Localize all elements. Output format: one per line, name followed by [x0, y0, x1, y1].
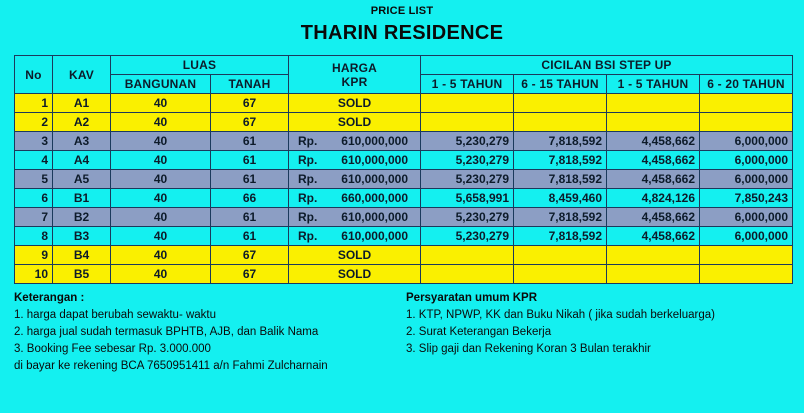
cell-status-sold: SOLD	[289, 113, 421, 132]
header-kpr: KPR	[293, 75, 416, 89]
cell-no: 4	[15, 151, 53, 170]
cell-cicilan-4: 6,000,000	[700, 170, 793, 189]
cell-kav: A4	[53, 151, 111, 170]
cell-cicilan-1: 5,230,279	[421, 170, 514, 189]
cell-bangunan: 40	[111, 132, 211, 151]
cell-status-sold: SOLD	[289, 265, 421, 284]
cell-no: 8	[15, 227, 53, 246]
cell-cicilan-4: 6,000,000	[700, 151, 793, 170]
cell-cicilan-4	[700, 246, 793, 265]
footer-notes: Keterangan : 1. harga dapat berubah sewa…	[14, 290, 793, 375]
cell-kav: B5	[53, 265, 111, 284]
cell-cicilan-1	[421, 113, 514, 132]
cell-cicilan-3: 4,458,662	[607, 132, 700, 151]
note-line: 1. harga dapat berubah sewaktu- waktu	[14, 307, 401, 324]
pricelist-table: No KAV LUAS HARGA KPR CICILAN BSI STEP U…	[14, 55, 793, 284]
header-cicilan-3: 1 - 5 TAHUN	[607, 75, 700, 94]
cell-harga: Rp.610,000,000	[289, 227, 421, 246]
cell-cicilan-2: 7,818,592	[514, 170, 607, 189]
cell-no: 9	[15, 246, 53, 265]
table-row: 7B24061Rp.610,000,0005,230,2797,818,5924…	[15, 208, 793, 227]
currency-prefix: Rp.	[298, 134, 317, 148]
cell-harga: Rp.610,000,000	[289, 208, 421, 227]
cell-harga: Rp.660,000,000	[289, 189, 421, 208]
header-row-top: No KAV LUAS HARGA KPR CICILAN BSI STEP U…	[15, 56, 793, 75]
cell-bangunan: 40	[111, 227, 211, 246]
cell-cicilan-1: 5,230,279	[421, 151, 514, 170]
cell-no: 7	[15, 208, 53, 227]
price-amount: 610,000,000	[341, 172, 408, 186]
cell-cicilan-2: 7,818,592	[514, 151, 607, 170]
cell-cicilan-1	[421, 246, 514, 265]
cell-bangunan: 40	[111, 189, 211, 208]
currency-prefix: Rp.	[298, 229, 317, 243]
price-amount: 610,000,000	[341, 134, 408, 148]
cell-no: 10	[15, 265, 53, 284]
cell-cicilan-3: 4,458,662	[607, 208, 700, 227]
price-amount: 660,000,000	[341, 191, 408, 205]
cell-bangunan: 40	[111, 265, 211, 284]
table-row: 2A24067SOLD	[15, 113, 793, 132]
notes-keterangan-heading: Keterangan :	[14, 290, 401, 307]
header-cicilan: CICILAN BSI STEP UP	[421, 56, 793, 75]
currency-prefix: Rp.	[298, 153, 317, 167]
cell-no: 5	[15, 170, 53, 189]
cell-no: 1	[15, 94, 53, 113]
notes-keterangan-lines: 1. harga dapat berubah sewaktu- waktu2. …	[14, 307, 401, 375]
table-row: 8B34061Rp.610,000,0005,230,2797,818,5924…	[15, 227, 793, 246]
cell-status-sold: SOLD	[289, 246, 421, 265]
header-bangunan: BANGUNAN	[111, 75, 211, 94]
cell-cicilan-4: 6,000,000	[700, 227, 793, 246]
cell-cicilan-3: 4,458,662	[607, 151, 700, 170]
note-line: 3. Slip gaji dan Rekening Koran 3 Bulan …	[406, 341, 793, 358]
header-cicilan-1: 1 - 5 TAHUN	[421, 75, 514, 94]
cell-cicilan-1	[421, 94, 514, 113]
price-amount: 610,000,000	[341, 153, 408, 167]
cell-harga: Rp.610,000,000	[289, 132, 421, 151]
table-row: 9B44067SOLD	[15, 246, 793, 265]
cell-cicilan-4	[700, 94, 793, 113]
cell-tanah: 61	[211, 151, 289, 170]
cell-kav: A5	[53, 170, 111, 189]
table-row: 4A44061Rp.610,000,0005,230,2797,818,5924…	[15, 151, 793, 170]
header-harga: HARGA	[293, 61, 416, 75]
cell-bangunan: 40	[111, 151, 211, 170]
cell-cicilan-2	[514, 113, 607, 132]
header-tanah: TANAH	[211, 75, 289, 94]
cell-harga: Rp.610,000,000	[289, 170, 421, 189]
cell-cicilan-2: 8,459,460	[514, 189, 607, 208]
header-harga-kpr: HARGA KPR	[289, 56, 421, 94]
cell-harga: Rp.610,000,000	[289, 151, 421, 170]
cell-cicilan-3	[607, 265, 700, 284]
notes-persyaratan-lines: 1. KTP, NPWP, KK dan Buku Nikah ( jika s…	[406, 307, 793, 358]
cell-cicilan-3	[607, 246, 700, 265]
cell-tanah: 67	[211, 113, 289, 132]
page-subtitle: PRICE LIST	[0, 5, 804, 18]
cell-cicilan-1: 5,230,279	[421, 208, 514, 227]
cell-cicilan-3: 4,824,126	[607, 189, 700, 208]
cell-cicilan-1: 5,230,279	[421, 132, 514, 151]
cell-tanah: 66	[211, 189, 289, 208]
note-line: 2. Surat Keterangan Bekerja	[406, 324, 793, 341]
cell-cicilan-2: 7,818,592	[514, 208, 607, 227]
table-row: 6B14066Rp.660,000,0005,658,9918,459,4604…	[15, 189, 793, 208]
note-line: 1. KTP, NPWP, KK dan Buku Nikah ( jika s…	[406, 307, 793, 324]
cell-cicilan-2	[514, 246, 607, 265]
header-cicilan-2: 6 - 15 TAHUN	[514, 75, 607, 94]
currency-prefix: Rp.	[298, 210, 317, 224]
header-cicilan-4: 6 - 20 TAHUN	[700, 75, 793, 94]
cell-tanah: 67	[211, 94, 289, 113]
cell-no: 3	[15, 132, 53, 151]
cell-tanah: 67	[211, 246, 289, 265]
cell-cicilan-2	[514, 265, 607, 284]
cell-cicilan-3	[607, 94, 700, 113]
cell-cicilan-2: 7,818,592	[514, 227, 607, 246]
cell-cicilan-4: 6,000,000	[700, 208, 793, 227]
cell-kav: A1	[53, 94, 111, 113]
cell-cicilan-3: 4,458,662	[607, 170, 700, 189]
note-line: 2. harga jual sudah termasuk BPHTB, AJB,…	[14, 324, 401, 341]
cell-kav: A3	[53, 132, 111, 151]
notes-keterangan: Keterangan : 1. harga dapat berubah sewa…	[14, 290, 401, 375]
cell-cicilan-1: 5,658,991	[421, 189, 514, 208]
note-line: di bayar ke rekening BCA 7650951411 a/n …	[14, 358, 401, 375]
cell-cicilan-4: 7,850,243	[700, 189, 793, 208]
cell-tanah: 61	[211, 208, 289, 227]
note-line: 3. Booking Fee sebesar Rp. 3.000.000	[14, 341, 401, 358]
cell-cicilan-3	[607, 113, 700, 132]
cell-bangunan: 40	[111, 246, 211, 265]
cell-no: 2	[15, 113, 53, 132]
title-block: PRICE LIST THARIN RESIDENCE	[0, 0, 804, 45]
cell-kav: B1	[53, 189, 111, 208]
pricelist-table-container: No KAV LUAS HARGA KPR CICILAN BSI STEP U…	[14, 55, 794, 284]
currency-prefix: Rp.	[298, 191, 317, 205]
cell-tanah: 61	[211, 132, 289, 151]
header-kav: KAV	[53, 56, 111, 94]
table-row: 10B54067SOLD	[15, 265, 793, 284]
cell-cicilan-3: 4,458,662	[607, 227, 700, 246]
notes-persyaratan: Persyaratan umum KPR 1. KTP, NPWP, KK da…	[401, 290, 793, 375]
cell-cicilan-1: 5,230,279	[421, 227, 514, 246]
cell-kav: B3	[53, 227, 111, 246]
cell-cicilan-2	[514, 94, 607, 113]
currency-prefix: Rp.	[298, 172, 317, 186]
header-luas: LUAS	[111, 56, 289, 75]
cell-bangunan: 40	[111, 113, 211, 132]
cell-bangunan: 40	[111, 170, 211, 189]
table-row: 1A14067SOLD	[15, 94, 793, 113]
cell-bangunan: 40	[111, 208, 211, 227]
cell-bangunan: 40	[111, 94, 211, 113]
table-header: No KAV LUAS HARGA KPR CICILAN BSI STEP U…	[15, 56, 793, 94]
header-no: No	[15, 56, 53, 94]
table-row: 5A54061Rp.610,000,0005,230,2797,818,5924…	[15, 170, 793, 189]
page-title: THARIN RESIDENCE	[0, 21, 804, 45]
price-amount: 610,000,000	[341, 210, 408, 224]
cell-cicilan-4: 6,000,000	[700, 132, 793, 151]
price-amount: 610,000,000	[341, 229, 408, 243]
cell-cicilan-4	[700, 113, 793, 132]
cell-no: 6	[15, 189, 53, 208]
table-row: 3A34061Rp.610,000,0005,230,2797,818,5924…	[15, 132, 793, 151]
cell-tanah: 67	[211, 265, 289, 284]
cell-tanah: 61	[211, 170, 289, 189]
cell-kav: B4	[53, 246, 111, 265]
table-body: 1A14067SOLD2A24067SOLD3A34061Rp.610,000,…	[15, 94, 793, 284]
cell-kav: B2	[53, 208, 111, 227]
cell-cicilan-4	[700, 265, 793, 284]
cell-tanah: 61	[211, 227, 289, 246]
cell-cicilan-2: 7,818,592	[514, 132, 607, 151]
notes-persyaratan-heading: Persyaratan umum KPR	[406, 290, 793, 307]
cell-cicilan-1	[421, 265, 514, 284]
cell-status-sold: SOLD	[289, 94, 421, 113]
cell-kav: A2	[53, 113, 111, 132]
